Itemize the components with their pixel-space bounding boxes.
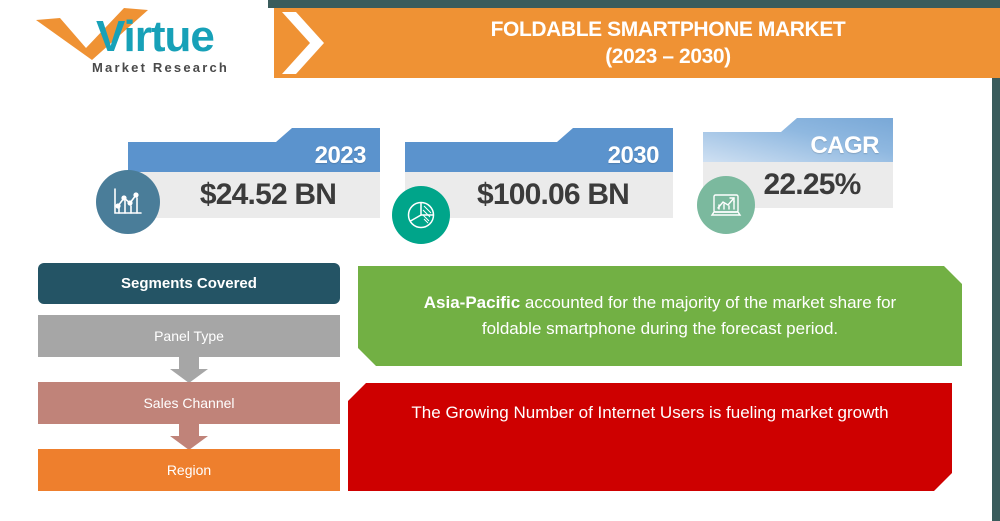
segments-covered-label: Segments Covered [121, 275, 257, 292]
segment-label-sales-channel: Sales Channel [143, 395, 234, 411]
page-title-line1: FOLDABLE SMARTPHONE MARKET [491, 16, 846, 43]
segment-item-region[interactable]: Region [38, 449, 340, 491]
stat-body-2023: $24.52 BN [128, 172, 380, 218]
infographic-canvas: Virtue Market Research FOLDABLE SMARTPHO… [0, 0, 1000, 521]
segment-label-panel-type: Panel Type [154, 328, 224, 344]
stat-label-cagr: CAGR [810, 132, 879, 160]
stat-value-cagr: 22.25% [736, 168, 861, 202]
brand-name: Virtue [96, 14, 214, 60]
stat-label-2030: 2030 [608, 142, 659, 170]
callout-region-insight: Asia-Pacific accounted for the majority … [358, 266, 962, 366]
arrow-down-icon-2 [166, 424, 212, 450]
page-title-line2: (2023 – 2030) [605, 43, 731, 70]
stat-card-2023: 2023 $24.52 BN [128, 128, 380, 218]
stat-value-2030: $100.06 BN [449, 178, 629, 212]
callout-driver-insight: The Growing Number of Internet Users is … [348, 383, 952, 491]
pie-chart-icon [392, 186, 450, 244]
page-title: FOLDABLE SMARTPHONE MARKET (2023 – 2030) [336, 8, 1000, 78]
stat-value-2023: $24.52 BN [172, 178, 336, 212]
segment-item-panel-type[interactable]: Panel Type [38, 315, 340, 357]
callout-region-rest: accounted for the majority of the market… [482, 293, 896, 338]
brand-tagline: Market Research [92, 60, 229, 75]
brand-logo: Virtue Market Research [30, 8, 262, 80]
frame-right-border [992, 0, 1000, 521]
callout-region-lead: Asia-Pacific [424, 293, 520, 312]
chevron-right-icon [268, 8, 336, 78]
segment-item-sales-channel[interactable]: Sales Channel [38, 382, 340, 424]
segment-label-region: Region [167, 462, 211, 478]
callout-region-text: Asia-Pacific accounted for the majority … [394, 290, 926, 342]
frame-top-border [268, 0, 1000, 8]
arrow-down-icon-1 [166, 357, 212, 383]
bar-line-chart-icon [96, 170, 160, 234]
growth-monitor-icon [697, 176, 755, 234]
callout-driver-text: The Growing Number of Internet Users is … [372, 403, 928, 423]
segments-covered-header: Segments Covered [38, 263, 340, 304]
stat-label-2023: 2023 [315, 142, 366, 170]
